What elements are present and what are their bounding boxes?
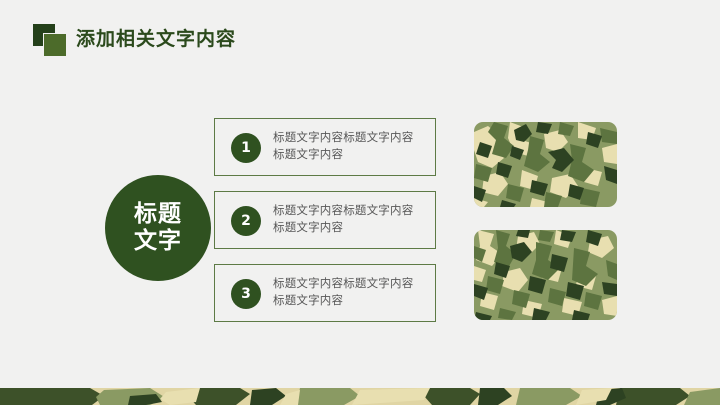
main-circle-line1: 标题 (134, 201, 182, 228)
row-text-2: 标题文字内容标题文字内容标题文字内容 (273, 202, 425, 236)
content-row-2[interactable]: 2 标题文字内容标题文字内容标题文字内容 (214, 191, 436, 249)
row-text-1: 标题文字内容标题文字内容标题文字内容 (273, 129, 425, 163)
main-circle-line2: 文字 (134, 228, 182, 255)
slide-header: 添加相关文字内容 (0, 0, 720, 75)
camouflage-bottom-strip (0, 388, 720, 405)
logo-squares-icon (33, 24, 67, 56)
content-row-3[interactable]: 3 标题文字内容标题文字内容标题文字内容 (214, 264, 436, 322)
content-row-1[interactable]: 1 标题文字内容标题文字内容标题文字内容 (214, 118, 436, 176)
camouflage-pattern-top (474, 122, 617, 207)
slide-canvas: 添加相关文字内容 标题 文字 1 标题文字内容标题文字内容标题文字内容 2 标题… (0, 0, 720, 405)
logo-square-front (43, 33, 67, 57)
main-title-circle: 标题 文字 (105, 175, 211, 281)
camouflage-pattern-bottom (474, 230, 617, 320)
page-title: 添加相关文字内容 (76, 26, 236, 52)
row-badge-3: 3 (231, 279, 261, 309)
row-badge-2: 2 (231, 206, 261, 236)
row-text-3: 标题文字内容标题文字内容标题文字内容 (273, 275, 425, 309)
row-badge-1: 1 (231, 133, 261, 163)
content-row-list: 1 标题文字内容标题文字内容标题文字内容 2 标题文字内容标题文字内容标题文字内… (214, 118, 438, 322)
